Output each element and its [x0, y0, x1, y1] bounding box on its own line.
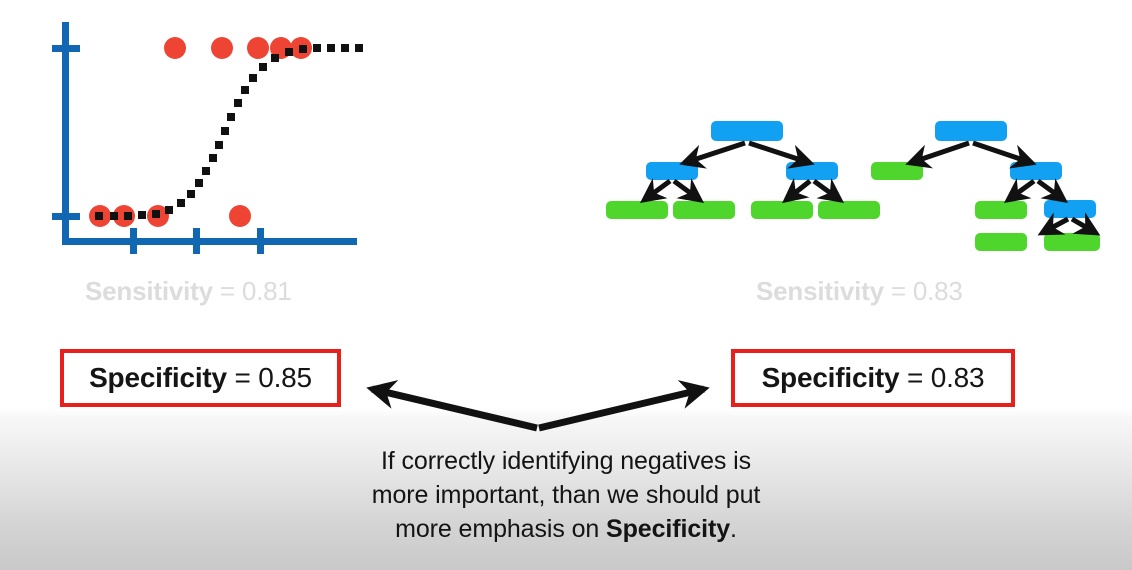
right-sensitivity-value: = 0.83: [884, 276, 963, 306]
caption: If correctly identifying negatives is mo…: [0, 444, 1132, 546]
slide-canvas: Sensitivity = 0.81 Sensitivity = 0.83 Sp…: [0, 0, 1132, 570]
tree-node-green: [975, 201, 1027, 219]
right-sensitivity-label: Sensitivity = 0.83: [756, 276, 963, 307]
tree-node-green: [606, 201, 668, 219]
tree-node-blue: [935, 121, 1007, 141]
arrow-right: [539, 389, 704, 428]
tree-node-blue: [711, 121, 783, 141]
random-forest-trees: [0, 0, 1132, 270]
caption-line-3-suffix: .: [730, 515, 737, 543]
right-specificity-value: = 0.83: [899, 362, 984, 393]
right-specificity-box: Specificity = 0.83: [731, 349, 1015, 407]
right-specificity-text: Specificity = 0.83: [762, 362, 985, 394]
caption-line-1: If correctly identifying negatives is: [0, 444, 1132, 478]
tree-node-green: [751, 201, 813, 219]
right-sensitivity-key: Sensitivity: [756, 276, 884, 306]
tree-node-green: [975, 233, 1027, 251]
tree-node-blue: [1010, 162, 1062, 180]
tree-node-green: [871, 162, 923, 180]
left-sensitivity-label: Sensitivity = 0.81: [85, 276, 292, 307]
right-specificity-key: Specificity: [762, 362, 900, 393]
left-sensitivity-value: = 0.81: [213, 276, 292, 306]
caption-line-3-bold: Specificity: [606, 515, 730, 543]
arrow-left: [372, 389, 537, 428]
tree-node-blue: [1044, 200, 1096, 218]
left-specificity-value: = 0.85: [227, 362, 312, 393]
tree-node-green: [673, 201, 735, 219]
caption-line-3-prefix: more emphasis on: [395, 515, 606, 543]
tree-node-blue: [786, 162, 838, 180]
caption-line-3: more emphasis on Specificity.: [0, 512, 1132, 546]
left-specificity-key: Specificity: [89, 362, 227, 393]
tree-node-green: [1044, 233, 1100, 251]
tree-node-blue: [646, 162, 698, 180]
caption-line-2: more important, than we should put: [0, 478, 1132, 512]
tree-node-green: [818, 201, 880, 219]
left-specificity-text: Specificity = 0.85: [89, 362, 312, 394]
left-specificity-box: Specificity = 0.85: [60, 349, 341, 407]
left-sensitivity-key: Sensitivity: [85, 276, 213, 306]
